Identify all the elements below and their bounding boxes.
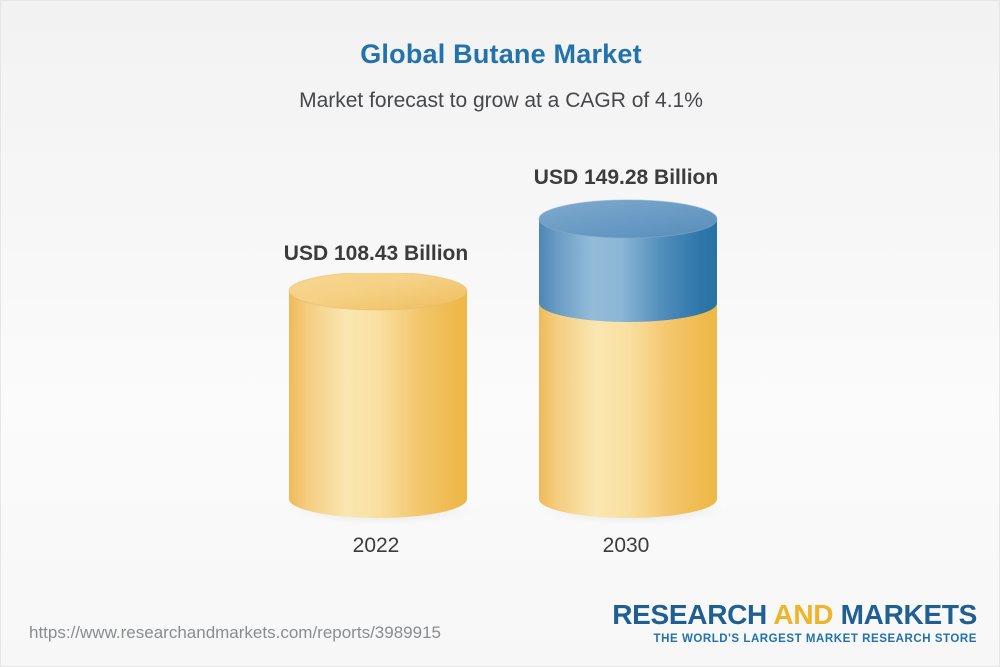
report-url[interactable]: https://www.researchandmarkets.com/repor… [29,623,441,643]
bar-cylinder-2022[interactable] [283,273,473,525]
research-and-markets-logo[interactable]: RESEARCH AND MARKETS THE WORLD'S LARGEST… [612,601,977,646]
bar-value-label-2022: USD 108.43 Billion [186,242,566,266]
plot-area: USD 108.43 Billion [1,1,1000,601]
bar-category-label-2022: 2022 [286,534,466,558]
bar-value-label-2030: USD 149.28 Billion [436,166,816,190]
logo-word-and: AND [773,599,833,630]
logo-word-research: RESEARCH [612,599,773,630]
chart-card: Global Butane Market Market forecast to … [0,0,1000,667]
bar-category-label-2030: 2030 [536,534,716,558]
logo-wordmark: RESEARCH AND MARKETS [612,601,977,629]
logo-word-markets: MARKETS [833,599,977,630]
logo-tagline: THE WORLD'S LARGEST MARKET RESEARCH STOR… [612,634,977,646]
bar-cylinder-2030[interactable] [533,193,723,525]
bar-body-2022 [289,291,467,518]
